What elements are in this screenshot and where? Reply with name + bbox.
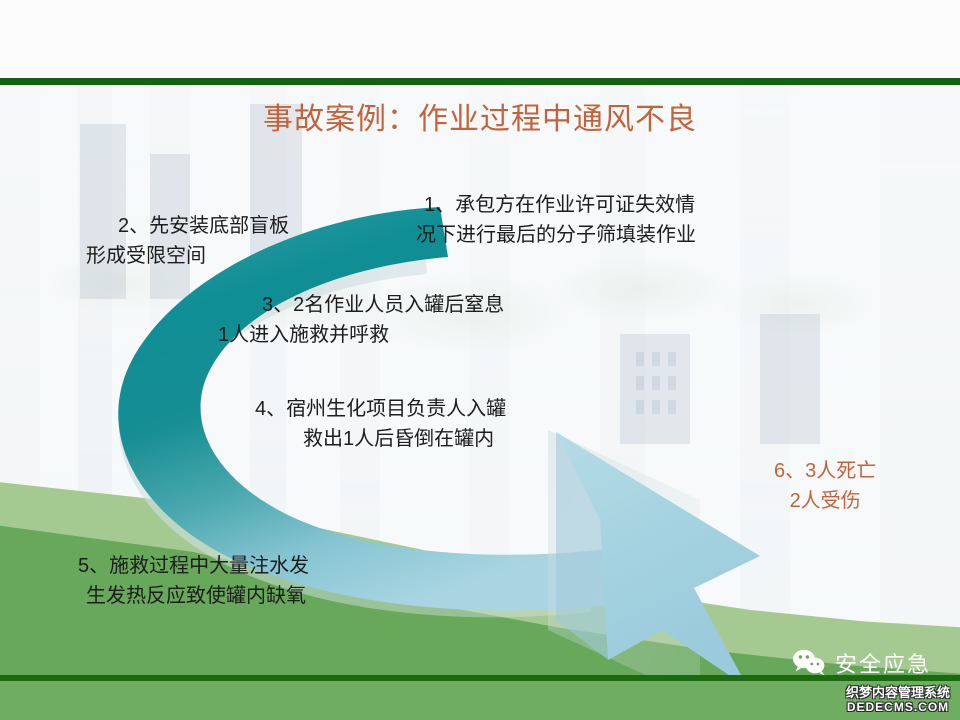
watermark-cn: 织梦内容管理系统 (846, 685, 950, 700)
header-blank-band (0, 0, 960, 78)
step-2-line-1: 2、先安装底部盲板 (86, 211, 289, 241)
step-1-line-1: 1、承包方在作业许可证失效情 (416, 190, 696, 220)
background-window (636, 376, 644, 390)
background-window (636, 400, 644, 414)
step-callout-5: 5、施救过程中大量注水发 生发热反应致使罐内缺氧 (78, 551, 309, 611)
footer-green-band (0, 681, 960, 720)
footer-brand: 安全应急 (792, 648, 931, 681)
slide-canvas: 事故案例：作业过程中通风不良 1、承包方在作业许可证失效情 况下进行最后的分子筛… (0, 0, 960, 720)
step-6-line-2: 2人受伤 (774, 486, 876, 516)
step-callout-6-outcome: 6、3人死亡 2人受伤 (774, 456, 876, 516)
background-window (636, 352, 644, 366)
step-6-line-1: 6、3人死亡 (774, 456, 876, 486)
background-building (760, 314, 820, 444)
step-callout-1: 1、承包方在作业许可证失效情 况下进行最后的分子筛填装作业 (416, 190, 696, 250)
step-5-line-1: 5、施救过程中大量注水发 (78, 551, 309, 581)
step-5-line-2: 生发热反应致使罐内缺氧 (78, 581, 309, 611)
step-callout-2: 2、先安装底部盲板 形成受限空间 (86, 211, 289, 271)
background-window (652, 400, 660, 414)
background-window (668, 352, 676, 366)
background-window (652, 352, 660, 366)
header-green-divider (0, 78, 960, 85)
step-3-line-2: 1人进入施救并呼救 (218, 320, 504, 350)
step-4-line-1: 4、宿州生化项目负责人入罐 (255, 394, 506, 424)
background-window (668, 400, 676, 414)
step-callout-4: 4、宿州生化项目负责人入罐 救出1人后昏倒在罐内 (255, 394, 506, 454)
watermark-en: DEDECMS.COM (846, 700, 950, 715)
step-callout-3: 3、2名作业人员入罐后窒息 1人进入施救并呼救 (218, 290, 504, 350)
step-3-line-1: 3、2名作业人员入罐后窒息 (218, 290, 504, 320)
step-4-line-2: 救出1人后昏倒在罐内 (255, 424, 506, 454)
background-window (652, 376, 660, 390)
background-window (668, 376, 676, 390)
watermark: 织梦内容管理系统 DEDECMS.COM (846, 685, 950, 715)
step-2-line-2: 形成受限空间 (86, 241, 289, 271)
page-title: 事故案例：作业过程中通风不良 (0, 100, 960, 140)
wechat-icon (792, 648, 826, 681)
step-1-line-2: 况下进行最后的分子筛填装作业 (416, 220, 696, 250)
brand-label: 安全应急 (835, 652, 931, 678)
